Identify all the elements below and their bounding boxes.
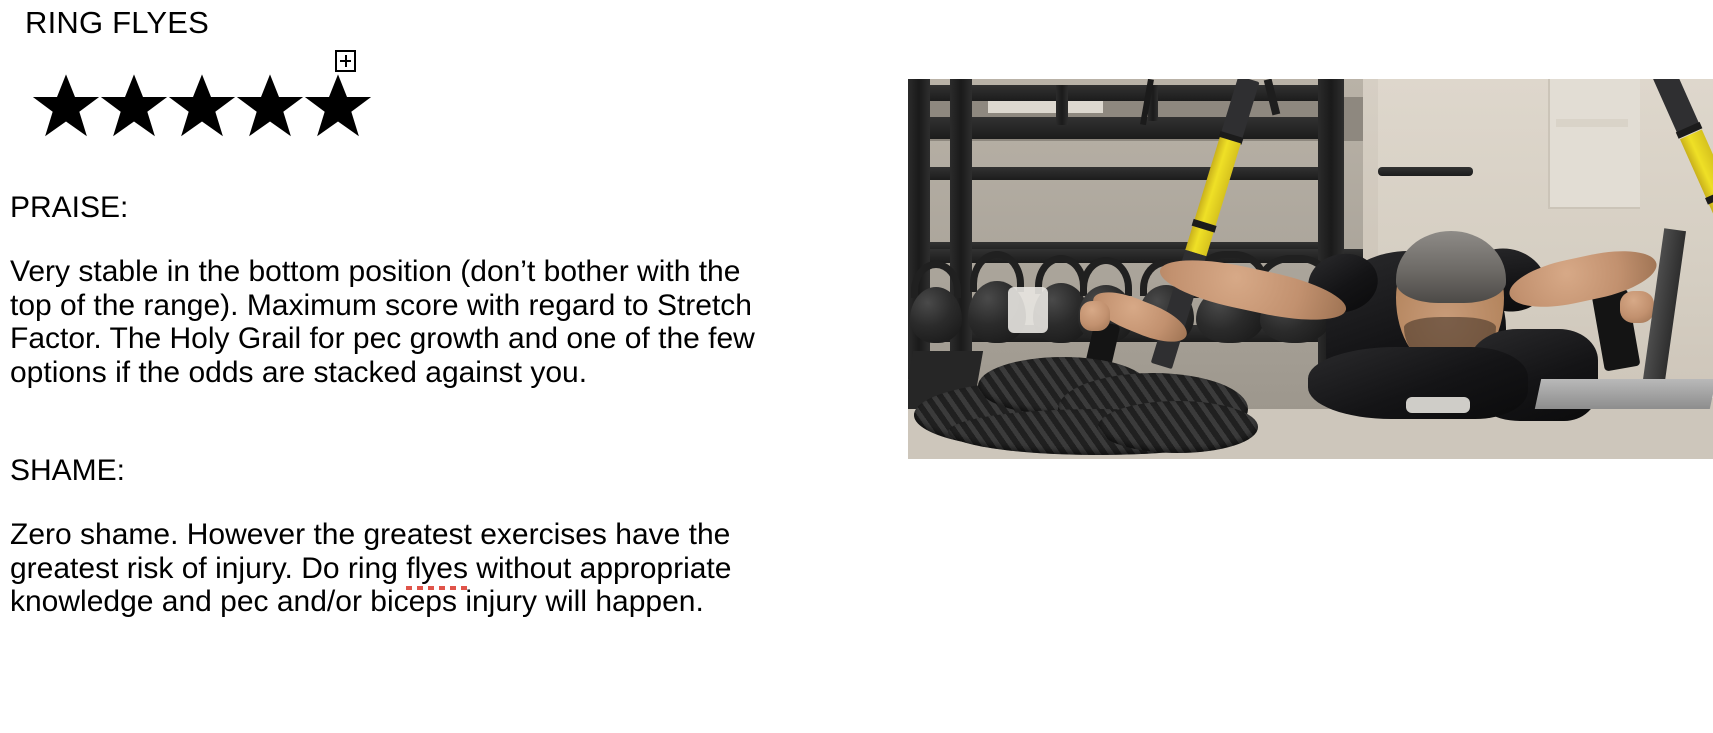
content-column: RING FLYES PRAISE: Very stable in the bo… — [0, 0, 820, 733]
photo-battle-ropes — [908, 351, 1288, 459]
photo-kettlebell-1 — [910, 261, 962, 343]
shame-heading: SHAME: — [10, 453, 125, 489]
photo-white-towel — [1008, 287, 1048, 333]
star-icon-1 — [30, 70, 102, 142]
photo-athlete-shoe — [1406, 397, 1470, 413]
misspelled-word-flyes[interactable]: flyes — [406, 552, 468, 586]
fill-handle-crosshair-icon[interactable] — [335, 50, 356, 72]
star-icon-3 — [166, 70, 238, 142]
star-rating[interactable] — [30, 70, 370, 142]
praise-body: Very stable in the bottom position (don’… — [10, 255, 755, 389]
photo-athlete-hand-right — [1620, 291, 1654, 323]
praise-heading: PRAISE: — [10, 190, 128, 226]
photo-rack-crossbar — [1378, 167, 1473, 176]
shame-body: Zero shame. However the greatest exercis… — [10, 518, 755, 619]
photo-athlete-hand-left — [1080, 301, 1110, 331]
exercise-photo — [908, 79, 1713, 459]
slide-canvas: RING FLYES PRAISE: Very stable in the bo… — [0, 0, 1713, 733]
photo-machine-base — [1535, 379, 1713, 409]
page-title: RING FLYES — [25, 4, 209, 42]
star-icon-5 — [302, 70, 374, 142]
star-icon-2 — [98, 70, 170, 142]
photo-door-frame-detail — [1556, 119, 1628, 127]
star-icon-4 — [234, 70, 306, 142]
photo-rack-beam-3 — [908, 167, 1338, 180]
photo-door-frame — [1548, 79, 1640, 209]
photo-rack-post-4 — [1056, 85, 1068, 125]
photo-rack-beam-2 — [908, 117, 1338, 139]
